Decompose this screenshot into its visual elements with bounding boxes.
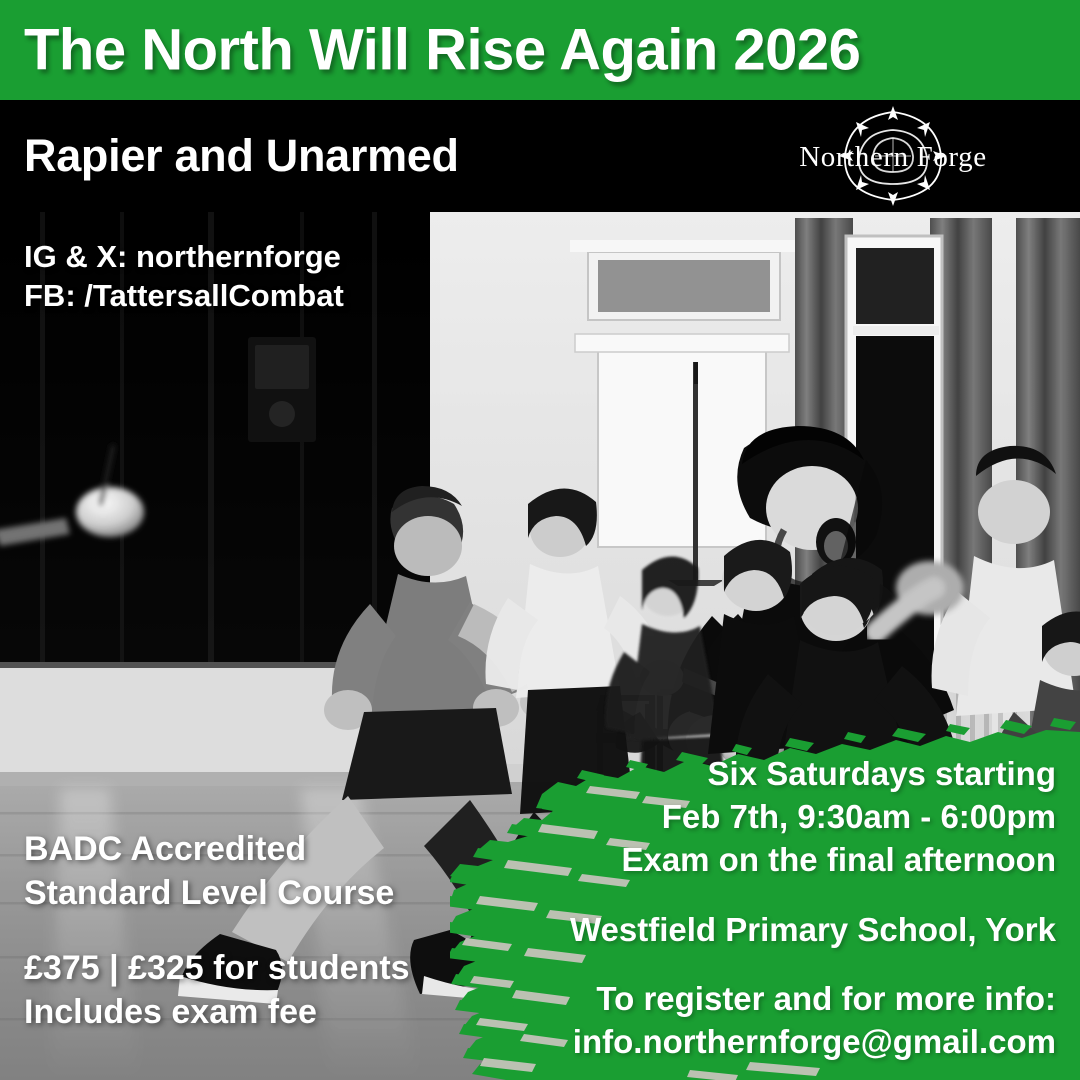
schedule-line-1: Six Saturdays starting <box>436 752 1056 795</box>
contact-prompt: To register and for more info: <box>436 977 1056 1020</box>
accreditation-line-2: Standard Level Course <box>24 871 410 915</box>
event-info: Six Saturdays starting Feb 7th, 9:30am -… <box>436 752 1056 1063</box>
venue-line: Westfield Primary School, York <box>436 908 1056 951</box>
logo: Northern Forge <box>760 104 1026 208</box>
contact-group: To register and for more info: info.nort… <box>436 977 1056 1063</box>
social-handles: IG & X: northernforge FB: /TattersallCom… <box>24 237 344 315</box>
logo-wordmark: Northern Forge <box>799 141 986 173</box>
price-note: Includes exam fee <box>24 990 410 1034</box>
course-subtitle: Rapier and Unarmed <box>24 130 459 182</box>
social-facebook: FB: /TattersallCombat <box>24 276 344 315</box>
northern-forge-logo: Northern Forge <box>760 104 1026 208</box>
contact-email[interactable]: info.northernforge@gmail.com <box>436 1020 1056 1063</box>
price-group: £375 | £325 for students Includes exam f… <box>24 946 410 1034</box>
accreditation-line-1: BADC Accredited <box>24 827 410 871</box>
page-title: The North Will Rise Again 2026 <box>24 17 860 84</box>
title-banner: The North Will Rise Again 2026 <box>0 0 1080 100</box>
venue-group: Westfield Primary School, York <box>436 908 1056 951</box>
social-instagram-x: IG & X: northernforge <box>24 237 344 276</box>
price-line: £375 | £325 for students <box>24 946 410 990</box>
schedule-line-3: Exam on the final afternoon <box>436 838 1056 881</box>
course-details: BADC Accredited Standard Level Course £3… <box>24 827 410 1034</box>
schedule-group: Six Saturdays starting Feb 7th, 9:30am -… <box>436 752 1056 882</box>
poster-canvas: The North Will Rise Again 2026 Rapier an… <box>0 0 1080 1080</box>
schedule-line-2: Feb 7th, 9:30am - 6:00pm <box>436 795 1056 838</box>
accreditation-group: BADC Accredited Standard Level Course <box>24 827 410 915</box>
